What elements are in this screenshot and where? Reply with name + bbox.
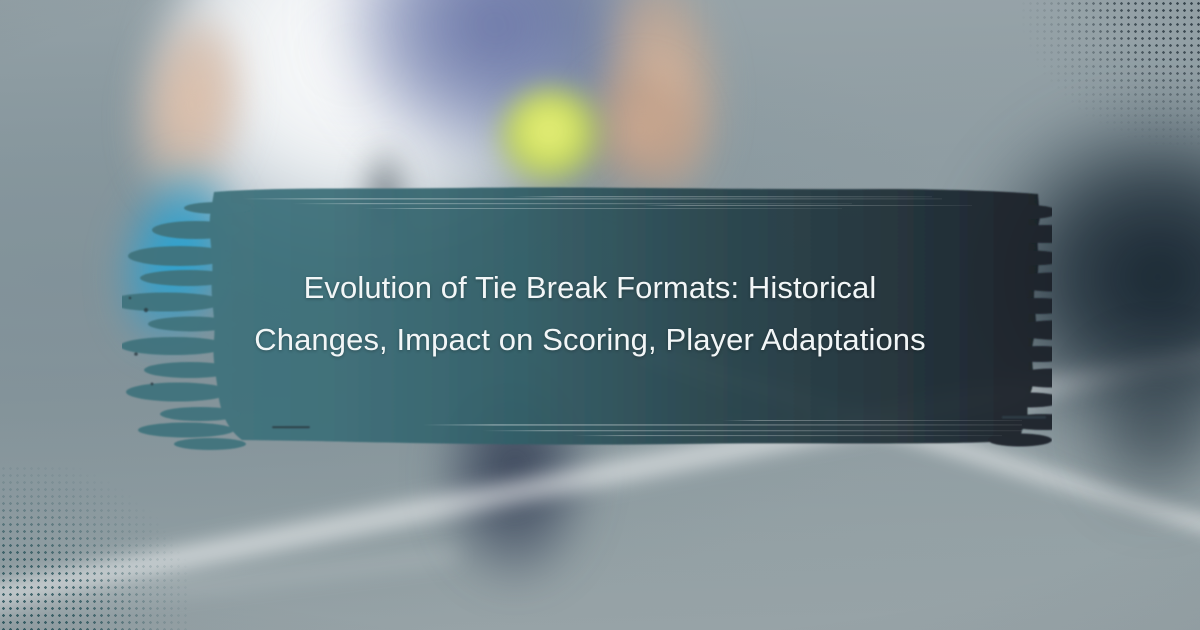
hero-card: Evolution of Tie Break Formats: Historic… (0, 0, 1200, 630)
hero-title: Evolution of Tie Break Formats: Historic… (190, 262, 990, 366)
